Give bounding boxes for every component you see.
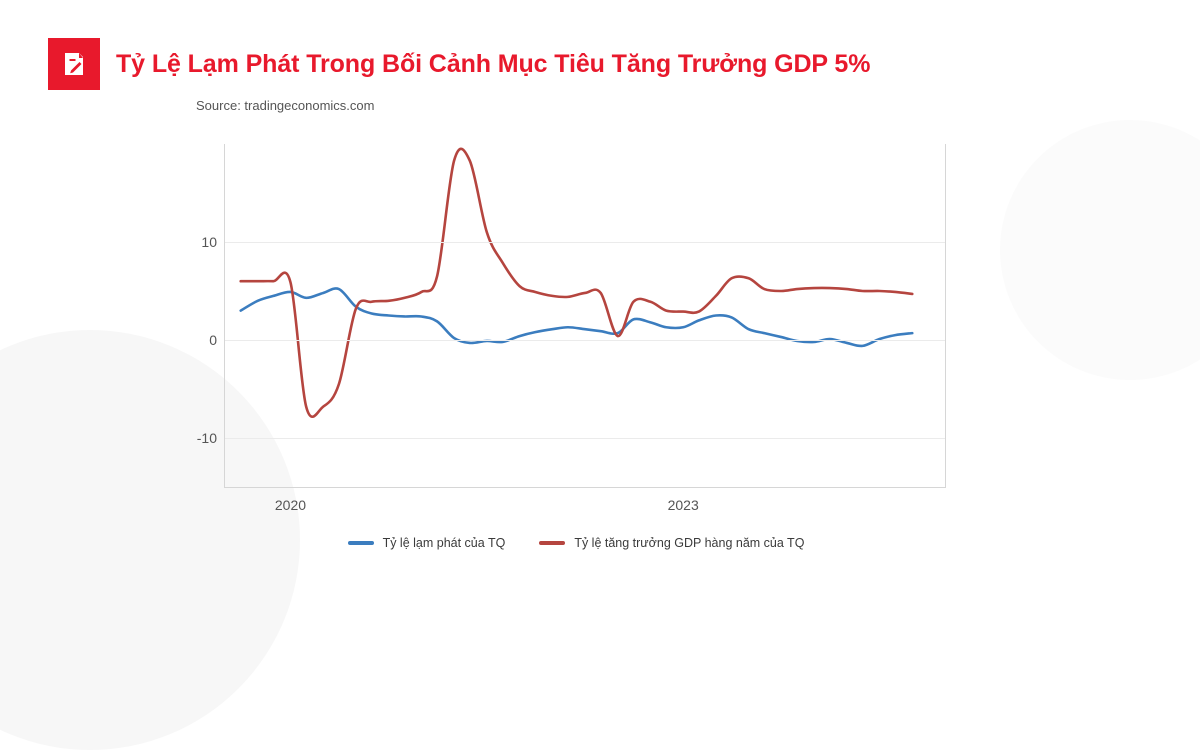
gridline: 10	[225, 242, 945, 243]
chart-container: -1001020202023 Tỷ lệ lạm phát của TQ Tỷ …	[196, 136, 956, 556]
y-axis-tick-label: 0	[209, 332, 217, 348]
legend-swatch-gdp	[539, 541, 565, 545]
page-title: Tỷ Lệ Lạm Phát Trong Bối Cảnh Mục Tiêu T…	[116, 50, 870, 79]
series-line-1	[241, 149, 913, 417]
legend-label-inflation: Tỷ lệ lạm phát của TQ	[383, 536, 506, 550]
gridline: 0	[225, 340, 945, 341]
background-decoration-right	[1000, 120, 1200, 380]
y-axis-tick-label: -10	[197, 430, 217, 446]
legend-swatch-inflation	[348, 541, 374, 545]
legend-item-gdp: Tỷ lệ tăng trưởng GDP hàng năm của TQ	[539, 536, 804, 550]
x-axis-tick-label: 2023	[668, 497, 699, 513]
header: Tỷ Lệ Lạm Phát Trong Bối Cảnh Mục Tiêu T…	[48, 38, 870, 90]
chart-lines	[225, 144, 945, 487]
legend-label-gdp: Tỷ lệ tăng trưởng GDP hàng năm của TQ	[574, 536, 804, 550]
logo	[48, 38, 100, 90]
x-axis-tick-label: 2020	[275, 497, 306, 513]
document-pen-icon	[59, 49, 89, 79]
series-line-0	[241, 288, 913, 346]
legend-item-inflation: Tỷ lệ lạm phát của TQ	[348, 536, 506, 550]
chart-legend: Tỷ lệ lạm phát của TQ Tỷ lệ tăng trưởng …	[196, 536, 956, 550]
y-axis-tick-label: 10	[201, 234, 217, 250]
gridline: -10	[225, 438, 945, 439]
source-note: Source: tradingeconomics.com	[196, 98, 374, 113]
plot-area: -1001020202023	[224, 144, 946, 488]
